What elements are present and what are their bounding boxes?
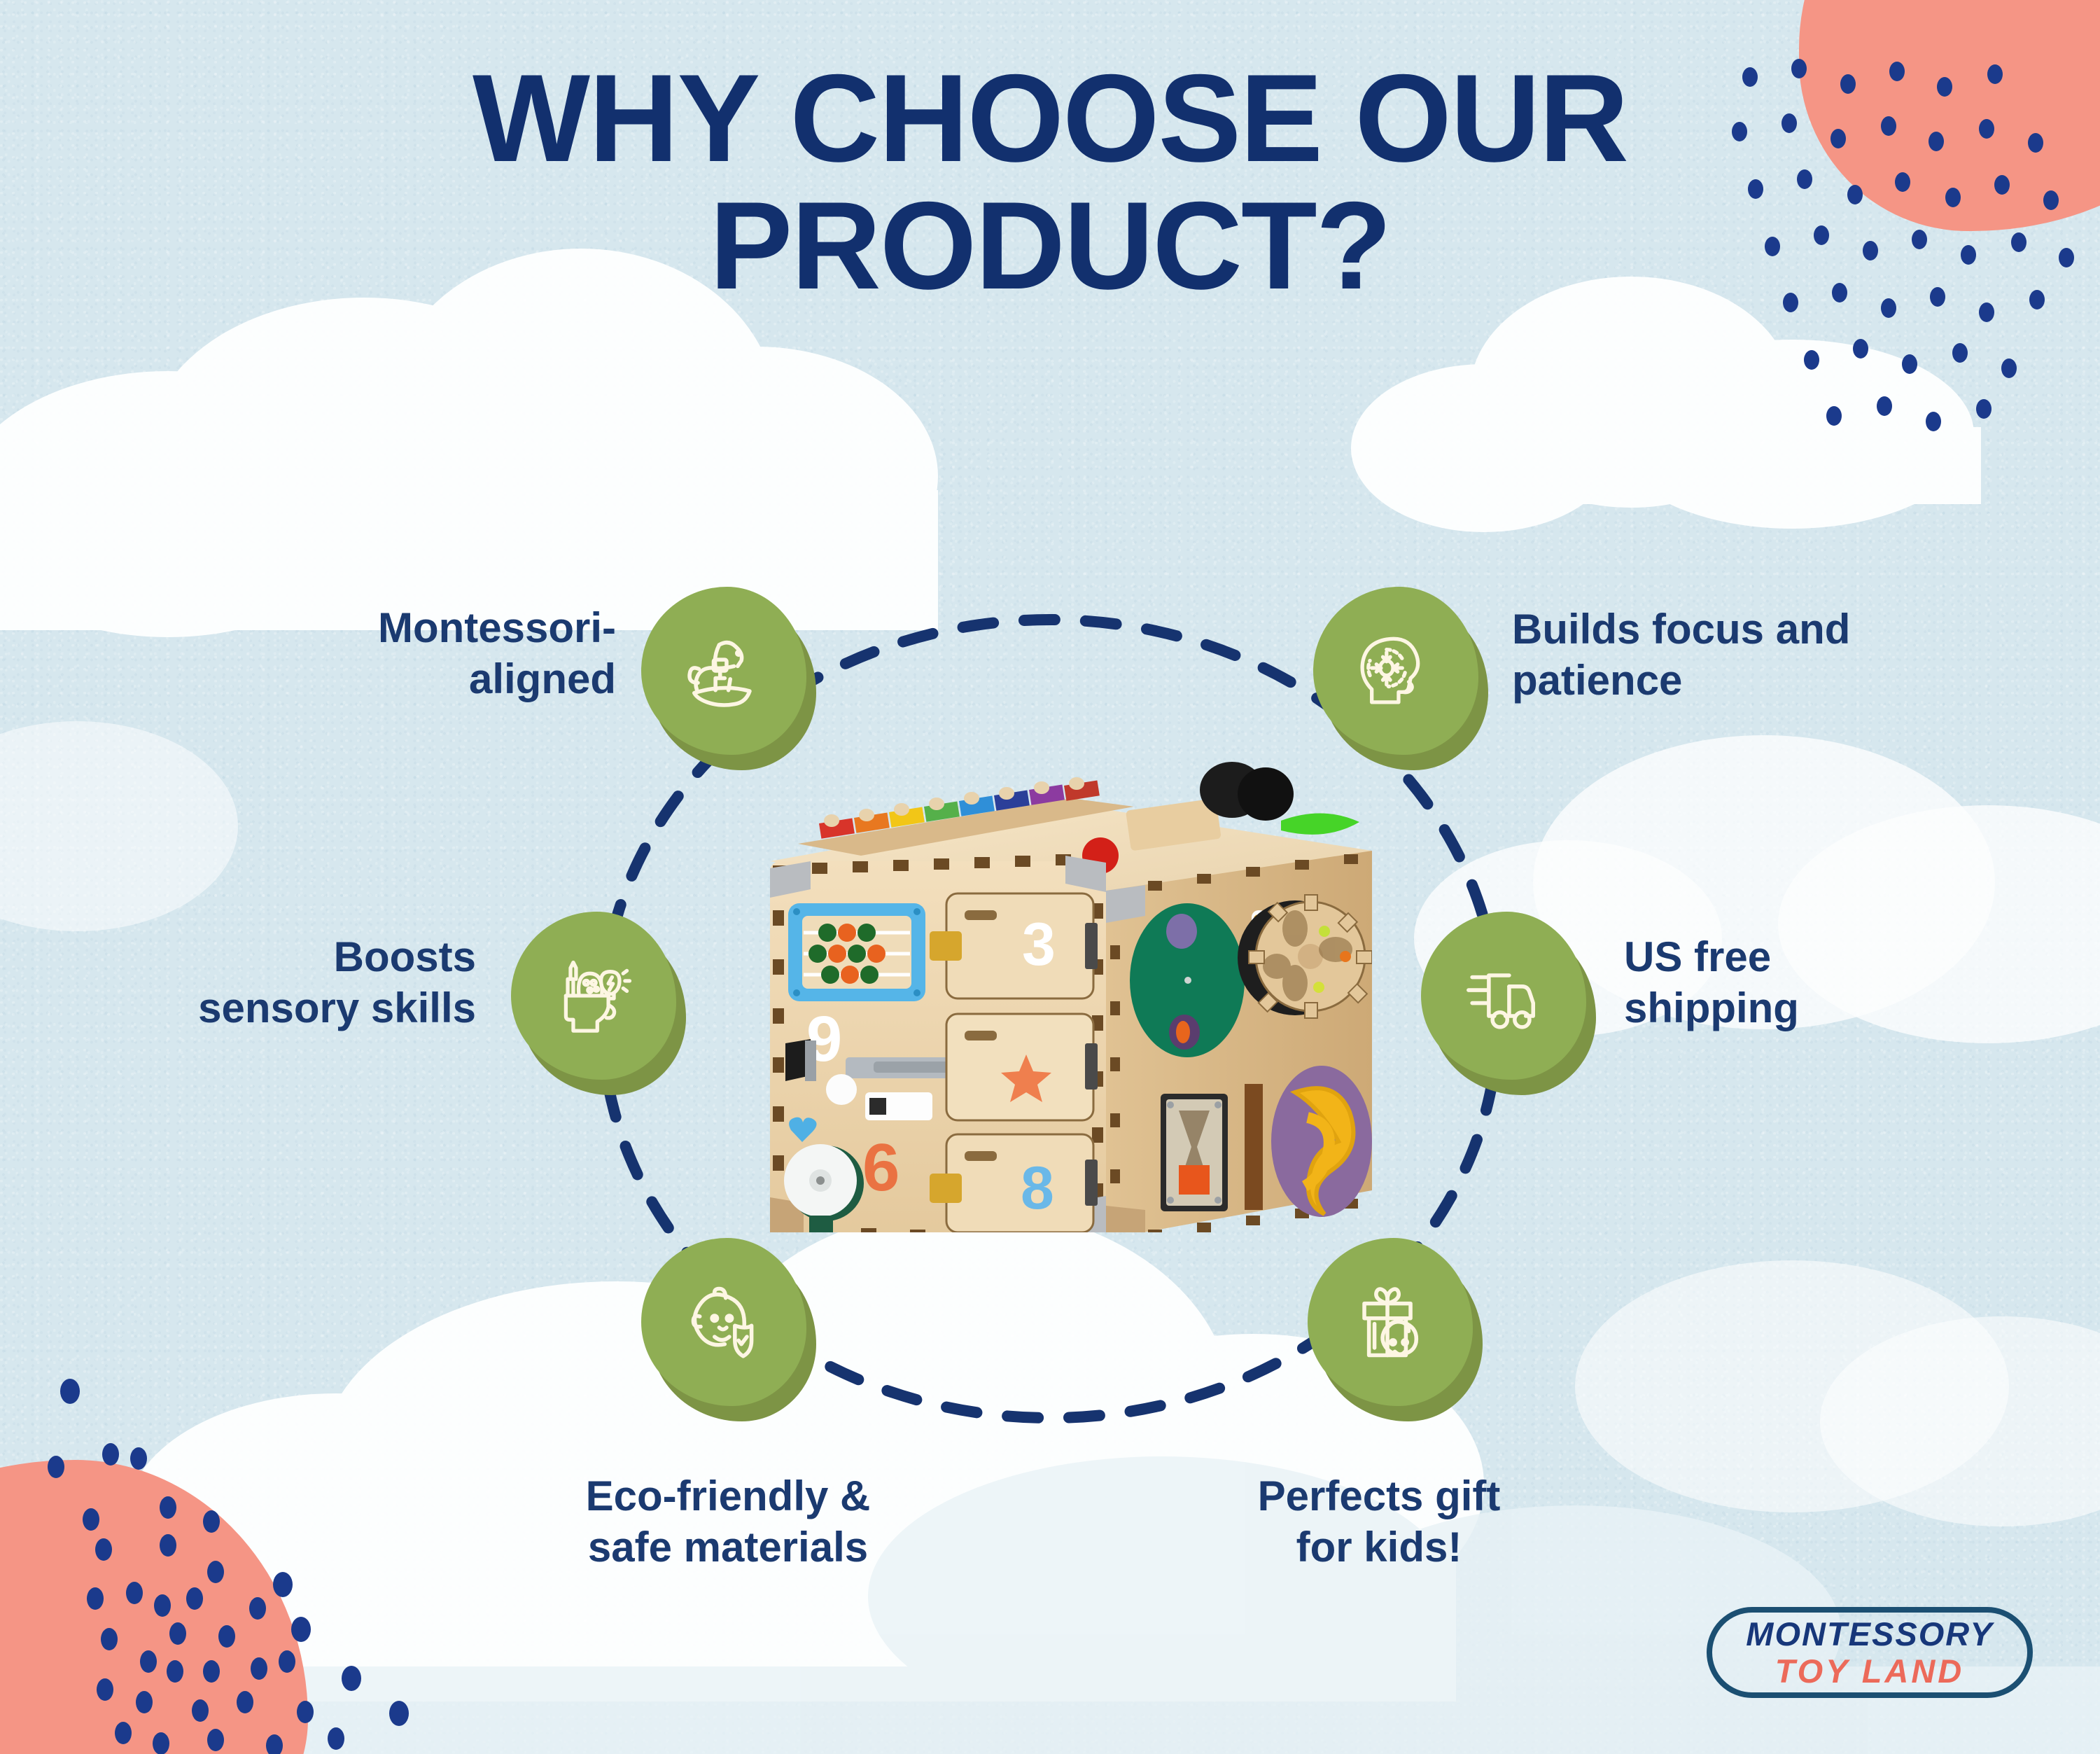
feature-label-eco-friendly: Eco-friendly & safe materials — [483, 1470, 973, 1573]
feature-label-boosts-sensory: Boosts sensory skills — [105, 931, 476, 1033]
gift-baby-icon — [1344, 1276, 1436, 1368]
blob-eco-friendly[interactable] — [641, 1238, 816, 1417]
title-line-2: PRODUCT? — [0, 182, 2100, 309]
feature-label-montessori-aligned: Montessori- aligned — [210, 602, 616, 704]
feature-label-us-free-shipping: US free shipping — [1624, 931, 2016, 1033]
head-focus-target-icon — [1350, 625, 1442, 717]
svg-text:3: 3 — [1022, 911, 1056, 978]
rocking-horse-icon — [678, 625, 770, 717]
brand-logo[interactable]: MONTESSORY TOY LAND — [1707, 1607, 2033, 1698]
title-line-1: WHY CHOOSE OUR — [0, 55, 2100, 182]
feature-label-builds-focus: Builds focus and patience — [1512, 604, 1960, 706]
blob-montessori-aligned[interactable] — [641, 587, 816, 765]
blob-us-free-shipping[interactable] — [1421, 912, 1596, 1090]
feature-label-perfect-gift: Perfects gift for kids! — [1134, 1470, 1624, 1573]
blob-perfect-gift[interactable] — [1308, 1238, 1483, 1417]
svg-text:6: 6 — [862, 1130, 899, 1205]
product-image-busy-cube: 9 6 3 8 — [742, 700, 1372, 1232]
page-title: WHY CHOOSE OUR PRODUCT? — [0, 55, 2100, 309]
blob-boosts-sensory[interactable] — [511, 912, 686, 1090]
svg-text:8: 8 — [1021, 1155, 1054, 1222]
blob-builds-focus[interactable] — [1313, 587, 1488, 765]
logo-line-2: TOY LAND — [1775, 1655, 1965, 1687]
logo-line-1: MONTESSORY — [1746, 1617, 1993, 1650]
baby-shield-icon — [678, 1276, 770, 1368]
creative-head-idea-icon — [547, 949, 640, 1042]
delivery-truck-icon — [1457, 949, 1550, 1042]
